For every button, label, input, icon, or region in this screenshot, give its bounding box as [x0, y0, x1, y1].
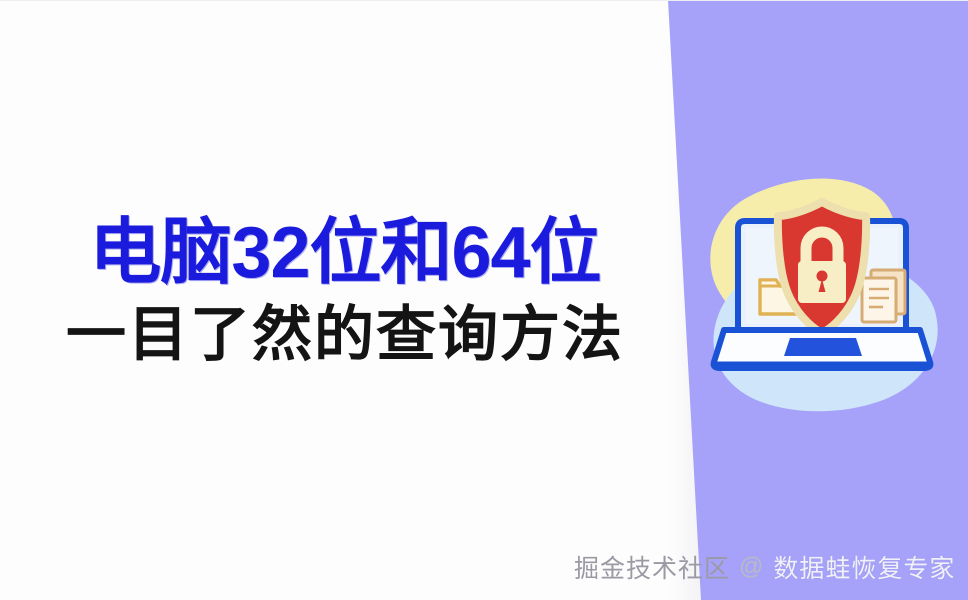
trackpad [784, 338, 862, 356]
title-block: 电脑32位和64位 一目了然的查询方法 [0, 214, 690, 372]
watermark-account: 数据蛙恢复专家 [773, 549, 955, 585]
title-line-1: 电脑32位和64位 [0, 214, 690, 292]
watermark-community: 掘金技术社区 [574, 549, 730, 585]
watermark: 掘金技术社区 @ 数据蛙恢复专家 [574, 548, 955, 586]
documents-icon [862, 270, 905, 322]
screenshot-canvas: 电脑32位和64位 一目了然的查询方法 [0, 0, 968, 600]
watermark-at-separator: @ [739, 553, 764, 581]
title-line-2: 一目了然的查询方法 [0, 298, 690, 372]
laptop-security-illustration [688, 158, 956, 420]
